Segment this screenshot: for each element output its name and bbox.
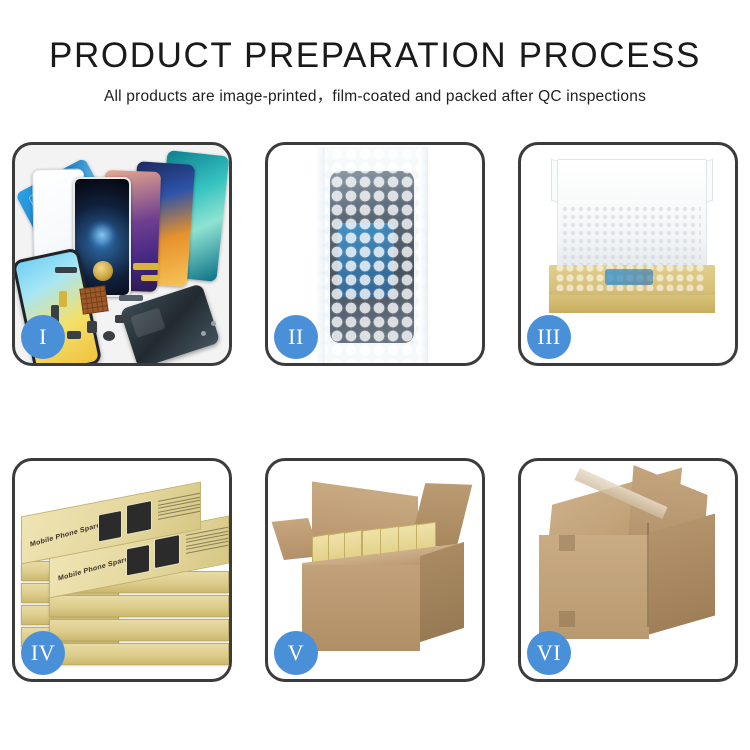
step-badge-4: IV xyxy=(21,631,65,675)
carton-side-icon xyxy=(420,542,464,642)
part-icon xyxy=(87,321,97,333)
foam-liner-icon xyxy=(561,205,701,267)
process-step-1: I xyxy=(12,142,232,366)
flex-cable-icon xyxy=(141,275,159,281)
carton-right-face-icon xyxy=(649,514,715,635)
wrap-edge-icon xyxy=(419,147,428,363)
box-print-phone-icon xyxy=(98,510,122,543)
page-title: PRODUCT PREPARATION PROCESS xyxy=(0,36,750,76)
part-icon xyxy=(67,331,81,339)
step-badge-1: I xyxy=(21,315,65,359)
screw-icon xyxy=(201,331,206,336)
bubble-pattern-icon xyxy=(316,147,428,363)
copper-mesh-icon xyxy=(79,285,108,314)
process-step-2: II xyxy=(265,142,485,366)
flex-cable-icon xyxy=(133,263,159,270)
step-badge-5: V xyxy=(274,631,318,675)
process-step-5: V xyxy=(265,458,485,682)
step-badge-6: VI xyxy=(527,631,571,675)
page-subtitle: All products are image-printed，film-coat… xyxy=(0,84,750,106)
packed-screen-highlight-icon xyxy=(605,269,653,285)
kraft-box-icon xyxy=(49,595,229,617)
kraft-tray-front-icon xyxy=(549,295,715,313)
process-step-4: Mobile Phone Spare Parts Mobile Phone Sp… xyxy=(12,458,232,682)
step-badge-3: III xyxy=(527,315,571,359)
speaker-coil-icon xyxy=(93,261,113,281)
bubble-wrap-sheet-icon xyxy=(316,147,428,363)
part-icon xyxy=(55,267,77,273)
process-grid: I II xyxy=(12,142,738,682)
flex-cable-icon xyxy=(59,291,67,307)
part-icon xyxy=(119,295,143,301)
screw-icon xyxy=(211,321,216,326)
process-step-6: VI xyxy=(518,458,738,682)
box-print-phone-icon xyxy=(126,544,150,577)
process-step-3: III xyxy=(518,142,738,366)
carton-edge-icon xyxy=(647,523,649,627)
part-icon xyxy=(115,315,131,323)
kraft-box-icon xyxy=(49,619,229,641)
carton-seam-icon xyxy=(559,611,575,627)
kraft-box-icon xyxy=(49,643,229,665)
step-badge-2: II xyxy=(274,315,318,359)
wrap-edge-icon xyxy=(316,147,325,363)
carton-front-icon xyxy=(302,565,420,651)
carton-seam-icon xyxy=(559,535,575,551)
box-print-text-lines xyxy=(158,492,201,522)
carton-front-face-icon xyxy=(539,535,649,639)
box-print-phone-icon xyxy=(126,500,152,535)
box-print-phone-icon xyxy=(154,534,180,569)
part-icon xyxy=(103,331,115,341)
infographic-root: PRODUCT PREPARATION PROCESS All products… xyxy=(0,0,750,750)
